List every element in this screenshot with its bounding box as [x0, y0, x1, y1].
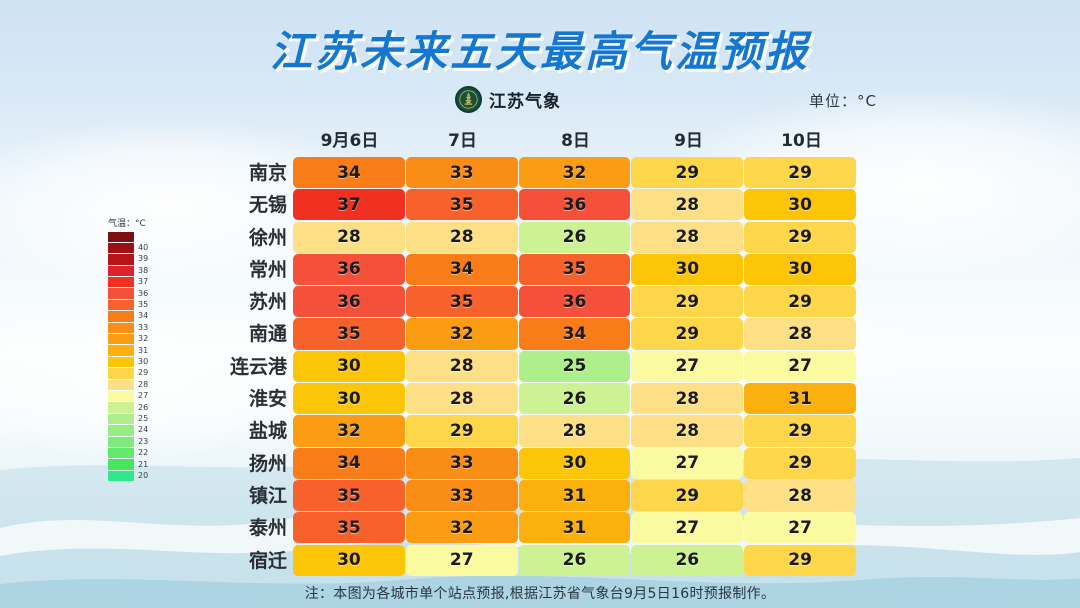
table-row: 3634353030	[293, 254, 856, 286]
temperature-cell: 28	[406, 351, 518, 382]
temperature-cell: 27	[744, 512, 856, 543]
legend-entry: 31	[108, 345, 164, 356]
temperature-cell: 29	[744, 415, 856, 446]
legend-title: 气温：°C	[108, 216, 164, 229]
temperature-color-legend: 气温：°C 4039383736353433323130292827262524…	[108, 216, 164, 482]
table-row: 3533312928	[293, 480, 856, 512]
temperature-cell: 27	[631, 512, 743, 543]
temperature-cell: 32	[293, 415, 405, 446]
temperature-cell: 26	[519, 222, 631, 253]
legend-swatch	[108, 402, 134, 412]
legend-entry: 33	[108, 322, 164, 333]
legend-swatch	[108, 391, 134, 401]
table-row: 3027262629	[293, 545, 856, 577]
table-row: 3532342928	[293, 318, 856, 350]
pagoda-emblem-icon	[455, 86, 482, 113]
legend-entry: 38	[108, 265, 164, 276]
legend-entry: 27	[108, 390, 164, 401]
city-label: 常州	[195, 254, 287, 286]
legend-swatch	[108, 448, 134, 458]
city-label: 连云港	[195, 351, 287, 383]
temperature-cell: 29	[744, 286, 856, 317]
day-header-4: 9日	[632, 126, 745, 151]
day-header-1: 9月6日	[293, 126, 406, 151]
legend-value: 28	[138, 381, 148, 389]
city-label: 南京	[195, 157, 287, 189]
temperature-cell: 28	[631, 415, 743, 446]
temperature-cell: 30	[744, 254, 856, 285]
legend-entry: 23	[108, 436, 164, 447]
temperature-cell: 26	[519, 545, 631, 576]
legend-entry: 30	[108, 356, 164, 367]
day-header-row: 9月6日7日8日9日10日	[293, 126, 856, 150]
temperature-cell: 26	[519, 383, 631, 414]
legend-swatch	[108, 254, 134, 264]
legend-entry: 21	[108, 459, 164, 470]
legend-swatch	[108, 471, 134, 481]
day-header-5: 10日	[745, 126, 858, 151]
legend-swatch	[108, 368, 134, 378]
legend-value: 31	[138, 347, 148, 355]
legend-value: 29	[138, 369, 148, 377]
day-header-2: 7日	[406, 126, 519, 151]
legend-entry: 34	[108, 311, 164, 322]
cloud-decoration	[0, 300, 340, 460]
legend-value: 39	[138, 255, 148, 263]
temperature-cell: 28	[406, 383, 518, 414]
temperature-cell: 28	[744, 318, 856, 349]
temperature-cell: 29	[744, 448, 856, 479]
legend-entry: 36	[108, 288, 164, 299]
legend-swatch	[108, 380, 134, 390]
legend-swatch	[108, 277, 134, 287]
temperature-cell: 35	[406, 189, 518, 220]
legend-entry: 25	[108, 413, 164, 424]
legend-entry: 32	[108, 334, 164, 345]
legend-value: 34	[138, 312, 148, 320]
temperature-cell: 36	[519, 189, 631, 220]
footnote: 注：本图为各城市单个站点预报,根据江苏省气象台9月5日16时预报制作。	[0, 583, 1080, 603]
temperature-cell: 28	[406, 222, 518, 253]
legend-entry: 37	[108, 277, 164, 288]
city-label: 镇江	[195, 480, 287, 512]
temperature-cell: 37	[293, 189, 405, 220]
legend-swatch	[108, 311, 134, 321]
legend-swatch	[108, 425, 134, 435]
temperature-cell: 29	[744, 222, 856, 253]
legend-entry: 26	[108, 402, 164, 413]
brand-name: 江苏气象	[489, 87, 561, 112]
legend-entry: 39	[108, 254, 164, 265]
legend-value: 36	[138, 290, 148, 298]
city-label: 苏州	[195, 286, 287, 318]
temperature-cell: 30	[293, 383, 405, 414]
table-row: 3532312727	[293, 512, 856, 544]
temperature-cell: 28	[631, 383, 743, 414]
temperature-cell: 25	[519, 351, 631, 382]
temperature-cell: 35	[519, 254, 631, 285]
temperature-cell: 29	[406, 415, 518, 446]
temperature-cell: 27	[631, 351, 743, 382]
day-header-3: 8日	[519, 126, 632, 151]
temperature-cell: 27	[631, 448, 743, 479]
city-label: 盐城	[195, 415, 287, 447]
temperature-cell: 36	[293, 286, 405, 317]
temperature-cell: 29	[631, 318, 743, 349]
legend-value: 22	[138, 449, 148, 457]
temperature-cell: 29	[631, 480, 743, 511]
temperature-cell: 31	[744, 383, 856, 414]
legend-swatch	[108, 323, 134, 333]
legend-swatch	[108, 243, 134, 253]
city-label: 无锡	[195, 189, 287, 221]
legend-swatch	[108, 437, 134, 447]
legend-entry: 29	[108, 368, 164, 379]
temperature-cell: 28	[293, 222, 405, 253]
temperature-grid: 3433322929373536283028282628293634353030…	[293, 157, 856, 577]
temperature-cell: 28	[519, 415, 631, 446]
temperature-cell: 35	[293, 480, 405, 511]
legend-entry: 28	[108, 379, 164, 390]
legend-value: 30	[138, 358, 148, 366]
city-label: 扬州	[195, 448, 287, 480]
legend-swatch	[108, 232, 134, 242]
temperature-cell: 30	[293, 545, 405, 576]
brand-logo: 江苏气象	[455, 86, 561, 113]
legend-value: 25	[138, 415, 148, 423]
temperature-cell: 34	[519, 318, 631, 349]
legend-value: 24	[138, 426, 148, 434]
unit-label: 单位：°C	[809, 90, 877, 111]
weather-forecast-infographic: 江苏未来五天最高气温预报 江苏气象 单位：°C 气温：°C 40393	[0, 0, 1080, 608]
temperature-cell: 32	[406, 318, 518, 349]
temperature-cell: 29	[744, 545, 856, 576]
temperature-cell: 35	[293, 512, 405, 543]
legend-value: 35	[138, 301, 148, 309]
city-label: 南通	[195, 318, 287, 350]
temperature-cell: 31	[519, 480, 631, 511]
city-label: 徐州	[195, 222, 287, 254]
city-label: 宿迁	[195, 545, 287, 577]
city-label: 泰州	[195, 512, 287, 544]
temperature-cell: 34	[293, 157, 405, 188]
temperature-cell: 30	[631, 254, 743, 285]
legend-value: 23	[138, 438, 148, 446]
temperature-cell: 35	[293, 318, 405, 349]
legend-value: 33	[138, 324, 148, 332]
temperature-cell: 32	[406, 512, 518, 543]
table-row: 3735362830	[293, 189, 856, 221]
legend-value: 38	[138, 267, 148, 275]
legend-value: 21	[138, 461, 148, 469]
legend-value: 32	[138, 335, 148, 343]
table-row: 3229282829	[293, 415, 856, 447]
city-label: 淮安	[195, 383, 287, 415]
table-row: 3028262831	[293, 383, 856, 415]
legend-value: 20	[138, 472, 148, 480]
temperature-cell: 30	[293, 351, 405, 382]
page-title: 江苏未来五天最高气温预报	[0, 18, 1080, 79]
temperature-cell: 27	[406, 545, 518, 576]
temperature-cell: 29	[631, 157, 743, 188]
legend-entry: 24	[108, 425, 164, 436]
temperature-cell: 34	[293, 448, 405, 479]
temperature-cell: 26	[631, 545, 743, 576]
temperature-cell: 36	[519, 286, 631, 317]
temperature-cell: 29	[631, 286, 743, 317]
temperature-cell: 28	[744, 480, 856, 511]
legend-value: 37	[138, 278, 148, 286]
table-row: 3433322929	[293, 157, 856, 189]
legend-swatch	[108, 300, 134, 310]
table-row: 3433302729	[293, 448, 856, 480]
temperature-cell: 33	[406, 157, 518, 188]
temperature-cell: 36	[293, 254, 405, 285]
temperature-cell: 28	[631, 189, 743, 220]
brand-row: 江苏气象 单位：°C	[0, 86, 1080, 116]
legend-entry: 20	[108, 470, 164, 481]
legend-swatch	[108, 345, 134, 355]
temperature-cell: 27	[744, 351, 856, 382]
temperature-cell: 35	[406, 286, 518, 317]
legend-swatch	[108, 266, 134, 276]
temperature-cell: 34	[406, 254, 518, 285]
legend-value: 27	[138, 392, 148, 400]
temperature-cell: 31	[519, 512, 631, 543]
legend-entry: 35	[108, 299, 164, 310]
legend-entry: 40	[108, 242, 164, 253]
temperature-cell: 33	[406, 448, 518, 479]
legend-entry: 22	[108, 447, 164, 458]
table-row: 3635362929	[293, 286, 856, 318]
legend-entry	[108, 231, 164, 242]
legend-swatch	[108, 334, 134, 344]
temperature-cell: 33	[406, 480, 518, 511]
temperature-cell: 30	[744, 189, 856, 220]
legend-swatch	[108, 459, 134, 469]
legend-swatch	[108, 357, 134, 367]
table-row: 2828262829	[293, 222, 856, 254]
city-label-column: 南京无锡徐州常州苏州南通连云港淮安盐城扬州镇江泰州宿迁	[195, 157, 287, 577]
legend-value: 26	[138, 404, 148, 412]
legend-scale: 4039383736353433323130292827262524232221…	[108, 231, 164, 482]
legend-swatch	[108, 414, 134, 424]
temperature-cell: 28	[631, 222, 743, 253]
temperature-cell: 30	[519, 448, 631, 479]
temperature-cell: 29	[744, 157, 856, 188]
legend-swatch	[108, 288, 134, 298]
table-row: 3028252727	[293, 351, 856, 383]
temperature-cell: 32	[519, 157, 631, 188]
legend-value: 40	[138, 244, 148, 252]
